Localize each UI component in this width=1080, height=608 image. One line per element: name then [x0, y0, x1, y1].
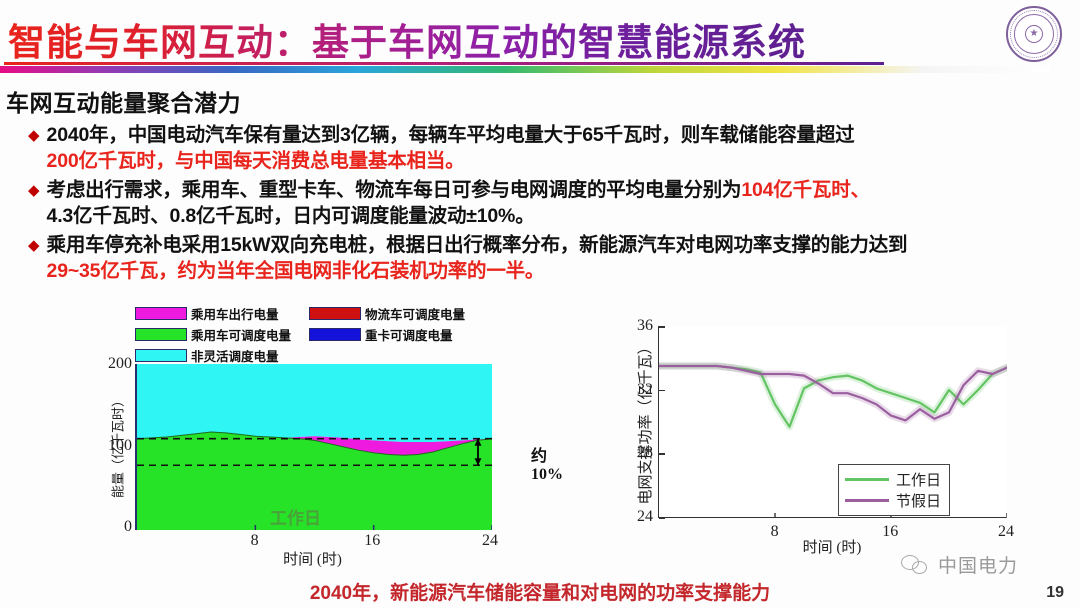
bullet-text: 考虑出行需求，乘用车、重型卡车、物流车每日可参与电网调度的平均电量分别为104亿…	[47, 177, 870, 229]
slide-root: 智能与车网互动：基于车网互动的智慧能源系统 车网互动能量聚合潜力 ◆ 2040年…	[0, 0, 1080, 608]
bullet-segment-highlight: 104亿千瓦时、	[741, 179, 869, 201]
rainbow-divider	[0, 66, 1050, 73]
list-item: ◆ 2040年，中国电动汽车保有量达到3亿辆，每辆车平均电量大于65千瓦时，则车…	[28, 122, 1058, 174]
legend-item: 工作日	[845, 469, 941, 490]
bullet-segment: 4.3亿千瓦时、0.8亿千瓦时，日内可调度能量波动±10%。	[47, 205, 535, 227]
list-item: ◆ 乘用车停充补电采用15kW双向充电桩，根据日出行概率分布，新能源汽车对电网功…	[28, 232, 1058, 284]
chart-annotation-percent: 约10%	[531, 442, 563, 484]
legend-swatch	[135, 307, 187, 320]
watermark-text: 中国电力	[938, 551, 1018, 578]
bullet-list: ◆ 2040年，中国电动汽车保有量达到3亿辆，每辆车平均电量大于65千瓦时，则车…	[28, 122, 1058, 287]
bullet-segment-highlight: 29~35亿千瓦，约为当年全国电网非化石装机功率的一半。	[47, 260, 545, 282]
bullet-text: 乘用车停充补电采用15kW双向充电桩，根据日出行概率分布，新能源汽车对电网功率支…	[47, 232, 908, 284]
legend-label: 工作日	[896, 469, 941, 490]
legend-swatch	[309, 307, 361, 320]
bullet-segment: 2040年，中国电动汽车保有量达到3亿辆，每辆车平均电量大于65千瓦时，则车载储…	[47, 124, 855, 146]
legend-swatch	[309, 328, 361, 341]
watermark: 中国电力	[901, 551, 1018, 578]
y-tick: 200	[108, 355, 132, 373]
section-heading: 车网互动能量聚合潜力	[6, 84, 241, 118]
chart-energy-aggregation: 乘用车出行电量 物流车可调度电量 乘用车可调度电量 重卡可调度电量 非灵活调度电…	[55, 296, 555, 571]
title-bar: 智能与车网互动：基于车网互动的智慧能源系统	[0, 8, 1080, 60]
legend-line-swatch	[845, 499, 889, 502]
plot-area-right: 24 28 32 36 8 16 24	[658, 326, 1006, 518]
chart-inplot-label: 工作日	[270, 504, 321, 529]
legend-item: 节假日	[845, 490, 941, 511]
y-tick: 36	[637, 317, 653, 335]
legend-swatch	[135, 349, 187, 362]
list-item: ◆ 考虑出行需求，乘用车、重型卡车、物流车每日可参与电网调度的平均电量分别为10…	[28, 177, 1058, 229]
charts-container: 乘用车出行电量 物流车可调度电量 乘用车可调度电量 重卡可调度电量 非灵活调度电…	[0, 296, 1080, 571]
diamond-bullet-icon: ◆	[28, 233, 40, 259]
chart-legend-right: 工作日 节假日	[838, 464, 950, 516]
seal-star	[1025, 25, 1043, 43]
diamond-bullet-icon: ◆	[28, 123, 40, 149]
y-axis-label: 能量（亿千瓦时）	[108, 394, 127, 498]
legend-label: 非灵活调度电量	[191, 346, 309, 365]
page-title: 智能与车网互动：基于车网互动的智慧能源系统	[8, 12, 806, 66]
legend-swatch	[135, 328, 187, 341]
y-axis-label: 电网支撑功率（亿千瓦）	[634, 339, 655, 504]
x-axis-label: 时间 (时)	[135, 548, 490, 569]
wechat-icon	[901, 553, 931, 577]
legend-line-swatch	[845, 478, 889, 481]
y-tick: 0	[124, 518, 132, 536]
chart-legend-left: 乘用车出行电量 物流车可调度电量 乘用车可调度电量 重卡可调度电量 非灵活调度电…	[135, 304, 465, 365]
slide-caption: 2040年，新能源汽车储能容量和对电网的功率支撑能力	[0, 578, 1080, 605]
diamond-bullet-icon: ◆	[28, 178, 40, 204]
y-tick: 24	[637, 508, 653, 526]
legend-label: 乘用车可调度电量	[191, 325, 309, 344]
university-seal-icon	[1006, 6, 1062, 62]
legend-label: 物流车可调度电量	[365, 304, 485, 323]
bullet-text: 2040年，中国电动汽车保有量达到3亿辆，每辆车平均电量大于65千瓦时，则车载储…	[47, 122, 855, 174]
legend-label: 乘用车出行电量	[191, 304, 309, 323]
legend-label: 重卡可调度电量	[365, 325, 485, 344]
bullet-segment: 乘用车停充补电采用15kW双向充电桩，根据日出行概率分布，新能源汽车对电网功率支…	[47, 234, 908, 256]
chart-grid-support-power: 24 28 32 36 8 16 24 工作日 节假日 时间 (时) 电网支	[600, 308, 1060, 570]
line-chart-svg	[659, 326, 1007, 518]
page-number: 19	[1046, 584, 1064, 602]
bullet-segment: 考虑出行需求，乘用车、重型卡车、物流车每日可参与电网调度的平均电量分别为	[47, 179, 742, 201]
legend-label: 节假日	[896, 490, 941, 511]
bullet-segment-highlight: 200亿千瓦时，与中国每天消费总电量基本相当。	[47, 150, 465, 172]
title-underline	[4, 62, 884, 65]
